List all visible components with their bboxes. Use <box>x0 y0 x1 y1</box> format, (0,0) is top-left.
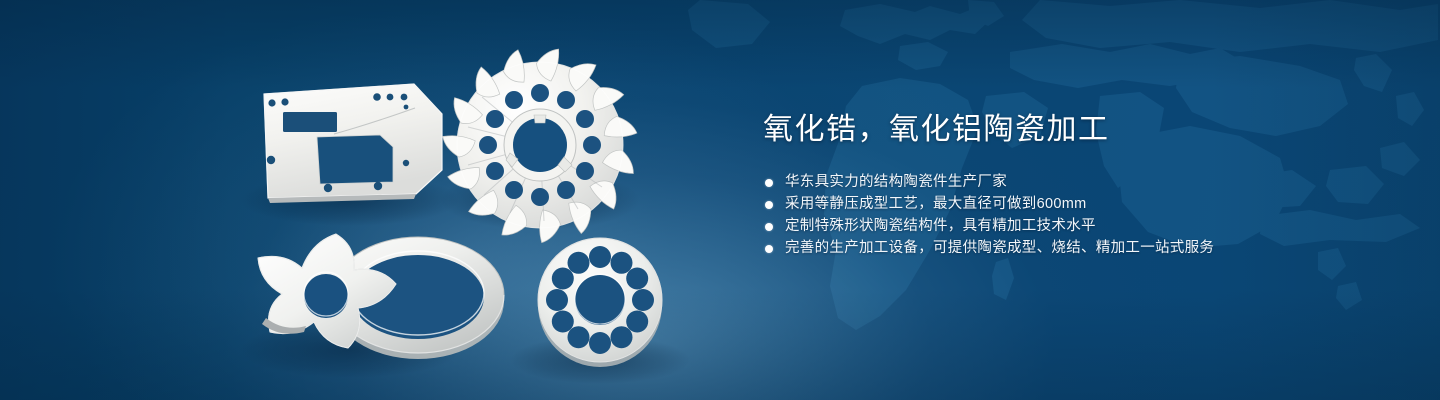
list-item: 华东具实力的结构陶瓷件生产厂家 <box>765 172 1214 194</box>
list-item: 定制特殊形状陶瓷结构件，具有精加工技术水平 <box>765 216 1214 238</box>
feature-text: 完善的生产加工设备，可提供陶瓷成型、烧结、精加工一站式服务 <box>785 238 1214 259</box>
feature-text: 采用等静压成型工艺，最大直径可做到600mm <box>785 194 1086 215</box>
ceramic-perforated-disc <box>538 238 662 367</box>
list-item: 完善的生产加工设备，可提供陶瓷成型、烧结、精加工一站式服务 <box>765 238 1214 260</box>
banner-text-column: 氧化锆，氧化铝陶瓷加工 华东具实力的结构陶瓷件生产厂家 采用等静压成型工艺，最大… <box>763 0 1423 400</box>
bullet-dot-icon <box>765 179 773 187</box>
hero-banner: 氧化锆，氧化铝陶瓷加工 华东具实力的结构陶瓷件生产厂家 采用等静压成型工艺，最大… <box>0 0 1440 400</box>
feature-text: 华东具实力的结构陶瓷件生产厂家 <box>785 172 1007 193</box>
bullet-dot-icon <box>765 245 773 253</box>
page-title: 氧化锆，氧化铝陶瓷加工 <box>763 110 1110 150</box>
list-item: 采用等静压成型工艺，最大直径可做到600mm <box>765 194 1214 216</box>
ceramic-plate-with-cutouts <box>264 84 442 203</box>
feature-text: 定制特殊形状陶瓷结构件，具有精加工技术水平 <box>785 216 1096 237</box>
feature-list: 华东具实力的结构陶瓷件生产厂家 采用等静压成型工艺，最大直径可做到600mm 定… <box>765 172 1214 260</box>
bullet-dot-icon <box>765 201 773 209</box>
bullet-dot-icon <box>765 223 773 231</box>
product-photo-group <box>0 0 760 400</box>
